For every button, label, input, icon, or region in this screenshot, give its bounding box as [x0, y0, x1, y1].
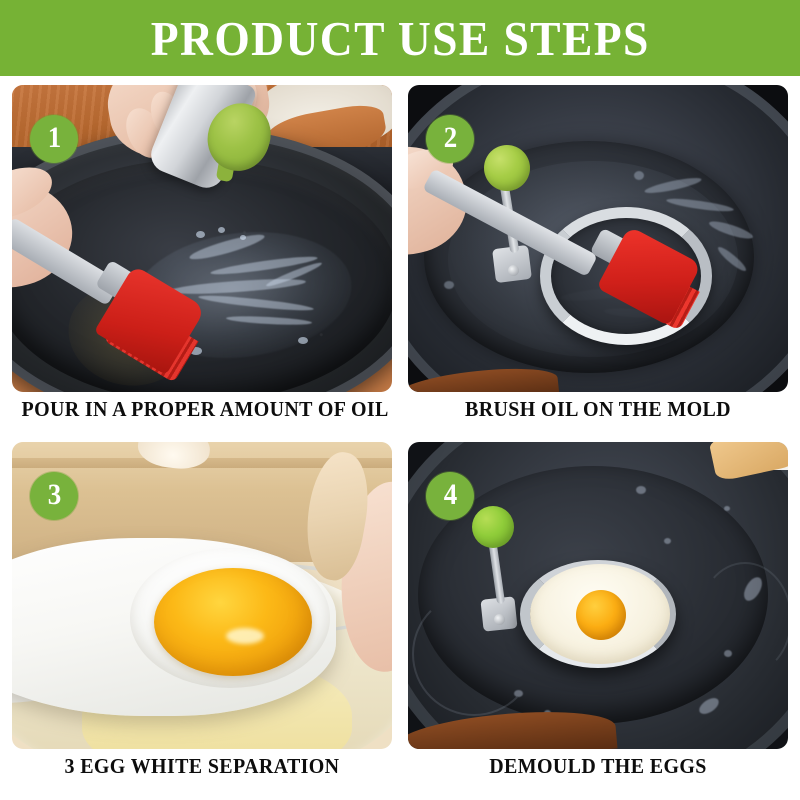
- oil-droplet: [444, 281, 454, 289]
- step-badge-4: 4: [426, 472, 474, 520]
- step-badge-3: 3: [30, 472, 78, 520]
- step-2-photo: 2: [408, 85, 788, 392]
- step-number: 4: [443, 480, 457, 510]
- mold-screw: [494, 614, 505, 625]
- step-number: 2: [443, 123, 457, 153]
- step-4-caption: DEMOULD THE EGGS: [418, 754, 779, 779]
- header-banner: PRODUCT USE STEPS: [0, 0, 800, 76]
- egg-yolk: [154, 568, 312, 676]
- step-1-caption: POUR IN A PROPER AMOUNT OF OIL: [22, 397, 383, 422]
- oil-droplet: [218, 227, 225, 233]
- pan-wear-mark: [698, 562, 788, 676]
- oil-droplet: [514, 690, 523, 697]
- oil-droplet: [298, 337, 308, 344]
- oil-droplet: [664, 538, 671, 544]
- step-card-3[interactable]: 3 3 EGG WHITE SEPARATION: [12, 442, 392, 792]
- step-card-2[interactable]: 2 BRUSH OIL ON THE MOLD: [408, 85, 788, 435]
- step-card-4[interactable]: 4 DEMOULD THE EGGS: [408, 442, 788, 792]
- step-number: 1: [47, 123, 61, 153]
- mold-green-knob: [472, 506, 514, 548]
- steps-grid: 1 POUR IN A PROPER AMOUNT OF OIL: [0, 76, 800, 800]
- oil-droplet: [636, 486, 646, 494]
- mold-screw: [508, 265, 519, 276]
- step-1-photo: 1: [12, 85, 392, 392]
- yolk-highlight: [226, 628, 264, 644]
- oil-droplet: [724, 650, 732, 657]
- step-3-caption: 3 EGG WHITE SEPARATION: [22, 754, 383, 779]
- oil-droplet: [724, 506, 730, 511]
- step-number: 3: [47, 480, 61, 510]
- oil-droplet: [196, 231, 205, 238]
- pan-wear-mark: [412, 592, 536, 716]
- oil-droplet: [634, 171, 644, 180]
- step-badge-2: 2: [426, 115, 474, 163]
- step-badge-1: 1: [30, 115, 78, 163]
- mold-green-knob: [484, 145, 530, 191]
- oil-droplet: [240, 235, 246, 240]
- page-title: PRODUCT USE STEPS: [151, 14, 650, 63]
- step-2-caption: BRUSH OIL ON THE MOLD: [418, 397, 779, 422]
- step-3-photo: 3: [12, 442, 392, 749]
- egg-yolk: [576, 590, 626, 640]
- step-card-1[interactable]: 1 POUR IN A PROPER AMOUNT OF OIL: [12, 85, 392, 435]
- step-4-photo: 4: [408, 442, 788, 749]
